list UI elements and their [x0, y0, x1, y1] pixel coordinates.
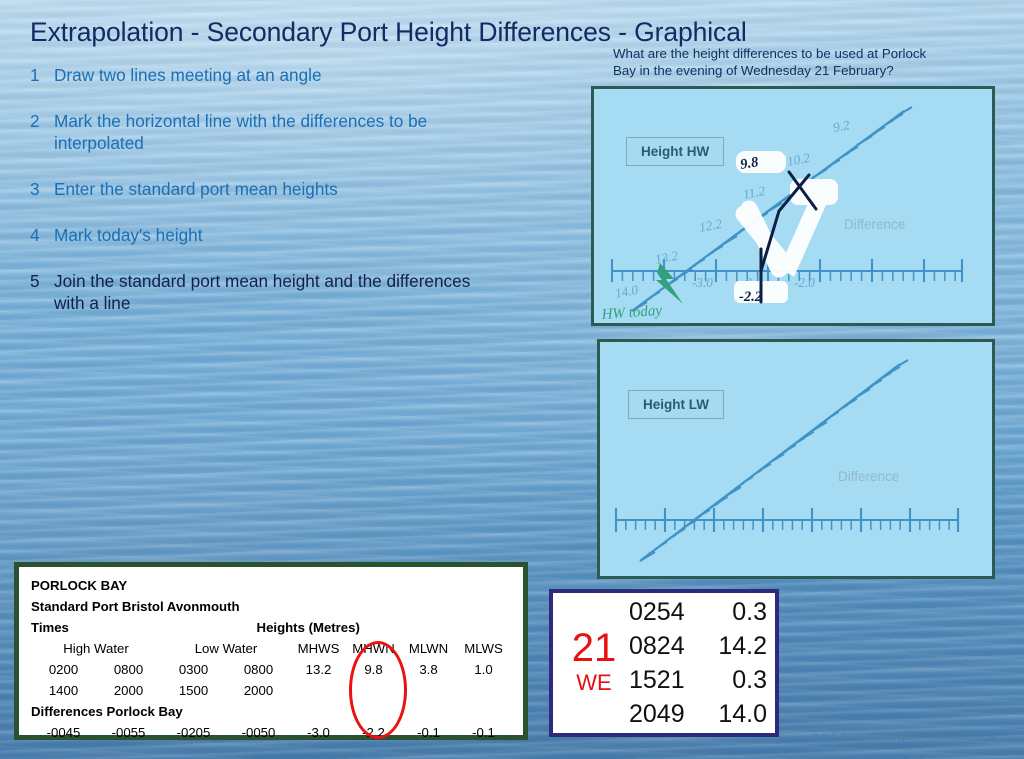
- table-row: Standard Port Bristol Avonmouth: [31, 596, 511, 617]
- column-header-mhwn: MHWN: [346, 638, 401, 659]
- date-column: 21 WE: [559, 597, 629, 729]
- axis-label-minus-3-0: -3.0: [692, 275, 713, 290]
- height-hw-diagram: 14.0 13.2 12.2 11.2 10.2 9.2 -3.0 -2.5 -…: [594, 89, 992, 323]
- column-header-low-water: Low Water: [161, 638, 291, 659]
- list-item: 2 Mark the horizontal line with the diff…: [30, 110, 500, 154]
- cell-hw2: 0800: [96, 659, 161, 680]
- heights-header: Heights (Metres): [257, 617, 511, 638]
- step-number: 2: [30, 110, 54, 154]
- step-text: Join the standard port mean height and t…: [54, 270, 500, 314]
- table-row: Differences Porlock Bay: [31, 701, 511, 722]
- list-item: 3 Enter the standard port mean heights: [30, 178, 500, 200]
- list-item: 5 Join the standard port mean height and…: [30, 270, 500, 314]
- cell-mlwn: [401, 680, 456, 701]
- tide-time: 2049: [629, 697, 717, 731]
- tide-height: 0.3: [717, 595, 767, 629]
- list-item: 2049 14.0: [629, 697, 767, 731]
- table-row: 0200 0800 0300 0800 13.2 9.8 3.8 1.0: [31, 659, 511, 680]
- difference-axis-label: Difference: [844, 217, 905, 232]
- list-item: 4 Mark today's height: [30, 224, 500, 246]
- graph-panel-height-lw: Difference Height LW: [597, 339, 995, 579]
- height-lw-diagram: Difference: [600, 342, 992, 576]
- step-number: 5: [30, 270, 54, 314]
- graph-panel-height-hw: 14.0 13.2 12.2 11.2 10.2 9.2 -3.0 -2.5 -…: [591, 86, 995, 326]
- cell-lw1: 0300: [161, 659, 226, 680]
- step-number: 3: [30, 178, 54, 200]
- diff-hw2: -0055: [96, 722, 161, 743]
- list-item: 1521 0.3: [629, 663, 767, 697]
- question-line-1: What are the height differences to be us…: [613, 46, 1013, 63]
- diff-mhws: -3.0: [291, 722, 346, 743]
- diff-mhwn: -2.2: [346, 722, 401, 743]
- cell-hw1: 0200: [31, 659, 96, 680]
- diff-lw2: -0050: [226, 722, 291, 743]
- column-header-mlwn: MLWN: [401, 638, 456, 659]
- port-name: PORLOCK BAY: [31, 575, 127, 596]
- column-header-mhws: MHWS: [291, 638, 346, 659]
- date-day: 21: [559, 628, 629, 668]
- question-text: What are the height differences to be us…: [613, 46, 1013, 79]
- annotation-difference-minus-2-2: -2.2: [739, 289, 762, 305]
- diff-mlws: -0.1: [456, 722, 511, 743]
- table-row: PORLOCK BAY: [31, 575, 511, 596]
- list-item: 0824 14.2: [629, 629, 767, 663]
- cell-hw1: 1400: [31, 680, 96, 701]
- tide-times-box: 21 WE 0254 0.3 0824 14.2 1521 0.3 2049 1…: [549, 589, 779, 737]
- tide-time: 0254: [629, 595, 717, 629]
- table-row: Times Heights (Metres): [31, 617, 511, 638]
- date-weekday: WE: [559, 668, 629, 698]
- annotation-height-9-8: 9.8: [739, 154, 760, 173]
- scale-label-13-2: 13.2: [654, 248, 680, 267]
- height-lw-label-box: Height LW: [628, 390, 724, 419]
- scale-label-9-2: 9.2: [832, 117, 851, 135]
- cell-mhws: [291, 680, 346, 701]
- table-row: -0045 -0055 -0205 -0050 -3.0 -2.2 -0.1 -…: [31, 722, 511, 743]
- cell-mlws: [456, 680, 511, 701]
- tide-height: 14.0: [717, 697, 767, 731]
- cell-mhwn: 9.8: [346, 659, 401, 680]
- standard-port: Standard Port Bristol Avonmouth: [31, 596, 240, 617]
- copyright-notice: © O E T Joy 2008 enquiries@sailskills.co…: [812, 731, 996, 742]
- page-title: Extrapolation - Secondary Port Height Di…: [30, 17, 747, 48]
- difference-axis-label: Difference: [838, 469, 899, 484]
- question-line-2: Bay in the evening of Wednesday 21 Febru…: [613, 63, 1013, 80]
- list-item: 1 Draw two lines meeting at an angle: [30, 64, 500, 86]
- cell-lw1: 1500: [161, 680, 226, 701]
- differences-header: Differences Porlock Bay: [31, 701, 183, 722]
- step-text: Mark today's height: [54, 224, 500, 246]
- tide-difference-table: PORLOCK BAY Standard Port Bristol Avonmo…: [14, 562, 528, 740]
- cell-mhwn: [346, 680, 401, 701]
- horizontal-axis: [616, 508, 958, 532]
- step-text: Mark the horizontal line with the differ…: [54, 110, 500, 154]
- tide-entries: 0254 0.3 0824 14.2 1521 0.3 2049 14.0: [629, 597, 767, 729]
- scale-label-14-0: 14.0: [614, 282, 640, 301]
- cell-mlwn: 3.8: [401, 659, 456, 680]
- tide-height: 14.2: [717, 629, 767, 663]
- step-text: Enter the standard port mean heights: [54, 178, 500, 200]
- step-number: 1: [30, 64, 54, 86]
- tide-time: 0824: [629, 629, 717, 663]
- table-row: High Water Low Water MHWS MHWN MLWN MLWS: [31, 638, 511, 659]
- cell-hw2: 2000: [96, 680, 161, 701]
- table-row: 1400 2000 1500 2000: [31, 680, 511, 701]
- cell-mhws: 13.2: [291, 659, 346, 680]
- tide-height: 0.3: [717, 663, 767, 697]
- step-number: 4: [30, 224, 54, 246]
- cell-lw2: 0800: [226, 659, 291, 680]
- cell-mlws: 1.0: [456, 659, 511, 680]
- steps-list: 1 Draw two lines meeting at an angle 2 M…: [30, 64, 500, 338]
- column-header-mlws: MLWS: [456, 638, 511, 659]
- diff-lw1: -0205: [161, 722, 226, 743]
- step-text: Draw two lines meeting at an angle: [54, 64, 500, 86]
- scale-label-11-2: 11.2: [742, 183, 767, 202]
- scale-label-10-2: 10.2: [786, 150, 812, 169]
- axis-label-minus-2-0: -2.0: [794, 275, 815, 290]
- scale-label-12-2: 12.2: [698, 216, 724, 235]
- diff-mlwn: -0.1: [401, 722, 456, 743]
- list-item: 0254 0.3: [629, 595, 767, 629]
- diff-hw1: -0045: [31, 722, 96, 743]
- cell-lw2: 2000: [226, 680, 291, 701]
- annotation-hw-today: HW today: [600, 303, 663, 323]
- column-header-high-water: High Water: [31, 638, 161, 659]
- tide-time: 1521: [629, 663, 717, 697]
- times-header: Times: [31, 617, 181, 638]
- height-hw-label-box: Height HW: [626, 137, 724, 166]
